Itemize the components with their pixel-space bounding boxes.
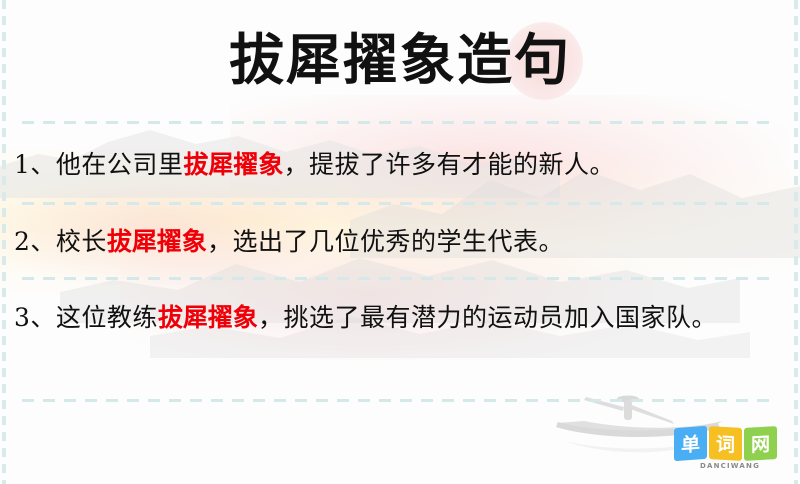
sentence-index: 2、 — [14, 227, 56, 256]
logo-char-3: 网 — [751, 430, 770, 458]
keyword-highlight: 拔犀擢象 — [183, 150, 283, 179]
list-item: 2、校长拔犀擢象，选出了几位优秀的学生代表。 — [14, 221, 784, 262]
divider-2 — [22, 202, 778, 205]
sentence-text-before: 校长 — [56, 227, 107, 256]
page-title: 拔犀擢象造句 — [0, 27, 800, 93]
logo-char-2: 词 — [716, 430, 735, 458]
list-item: 1、他在公司里拔犀擢象，提拔了许多有才能的新人。 — [14, 144, 784, 185]
divider-1 — [22, 121, 778, 124]
page-root: 拔犀擢象造句 1、他在公司里拔犀擢象，提拔了许多有才能的新人。 2、校长拔犀擢象… — [0, 0, 800, 484]
sentence-text-after: ，提拔了许多有才能的新人。 — [283, 150, 615, 179]
sentence-text-after: ，选出了几位优秀的学生代表。 — [207, 227, 564, 256]
logo-book-yellow: 词 — [709, 426, 742, 461]
sentence-index: 3、 — [14, 303, 56, 332]
sentence-index: 1、 — [14, 150, 56, 179]
sentence-text-before: 他在公司里 — [56, 150, 184, 179]
sentence-text-before: 这位教练 — [56, 303, 158, 332]
list-item: 3、这位教练拔犀擢象，挑选了最有潜力的运动员加入国家队。 — [14, 297, 776, 338]
logo-book-blue: 单 — [674, 426, 707, 461]
logo-char-1: 单 — [681, 429, 700, 457]
site-logo[interactable]: 单 词 网 DANCIWANG — [674, 427, 786, 477]
logo-books-icon: 单 词 网 — [674, 427, 786, 460]
divider-4 — [22, 399, 778, 402]
keyword-highlight: 拔犀擢象 — [107, 227, 207, 256]
divider-3 — [22, 277, 778, 280]
sentence-text-after: ，挑选了最有潜力的运动员加入国家队。 — [258, 303, 717, 332]
keyword-highlight: 拔犀擢象 — [158, 303, 258, 332]
logo-subtitle: DANCIWANG — [674, 462, 786, 470]
logo-book-green: 网 — [744, 426, 777, 461]
